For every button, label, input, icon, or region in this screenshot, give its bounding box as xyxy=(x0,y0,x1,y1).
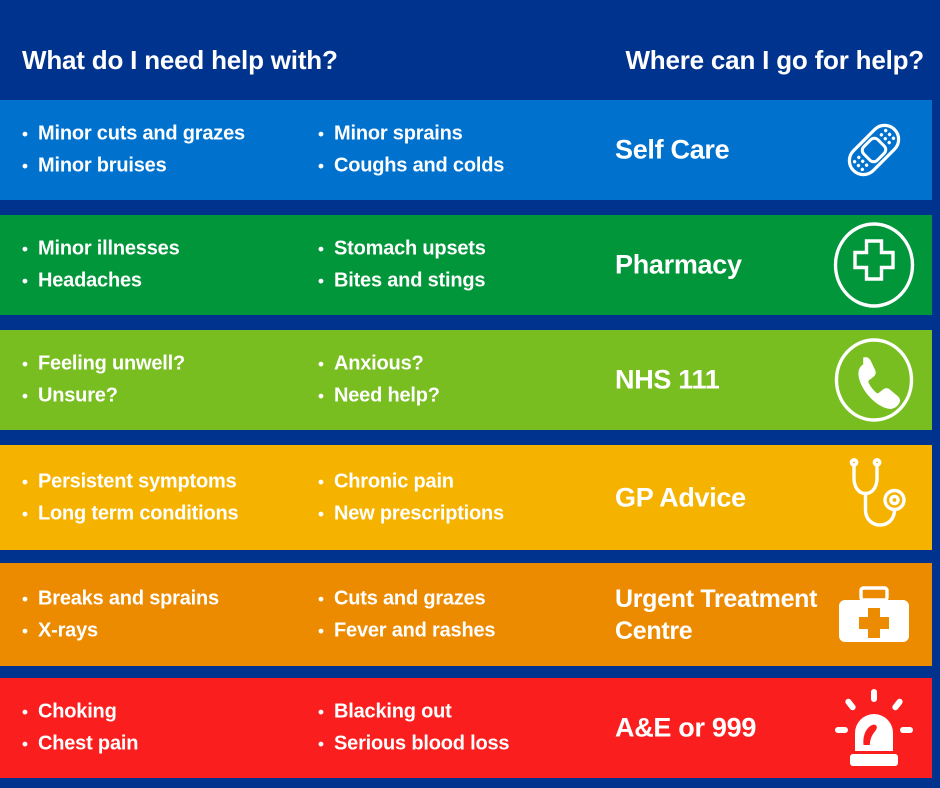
symptom-column-a: Minor illnesses Headaches xyxy=(22,233,180,298)
symptom-column-a: Breaks and sprains X-rays xyxy=(22,582,219,647)
service-name-label: Self Care xyxy=(615,133,830,168)
list-item: Feeling unwell? xyxy=(22,348,185,380)
list-item: Chest pain xyxy=(22,728,138,760)
plaster-icon xyxy=(828,104,920,196)
list-item: Anxious? xyxy=(318,348,440,380)
list-item: Minor sprains xyxy=(318,118,504,150)
bullet-icon xyxy=(318,623,334,640)
list-item: Unsure? xyxy=(22,380,185,412)
service-name-label: A&E or 999 xyxy=(615,711,830,746)
service-name-label: NHS 111 xyxy=(615,363,830,398)
list-item: Minor illnesses xyxy=(22,233,180,265)
list-item: Persistent symptoms xyxy=(22,465,238,497)
list-item: Chronic pain xyxy=(318,465,504,497)
service-row-pharmacy[interactable]: Minor illnesses Headaches Stomach upsets… xyxy=(0,215,932,315)
bullet-icon xyxy=(318,736,334,753)
list-item: Headaches xyxy=(22,265,180,297)
service-row-accident-emergency[interactable]: Choking Chest pain Blacking out Serious … xyxy=(0,678,932,778)
service-row-gp-advice[interactable]: Persistent symptoms Long term conditions… xyxy=(0,445,932,550)
header-bar: What do I need help with? Where can I go… xyxy=(0,0,940,100)
list-item: Minor bruises xyxy=(22,150,245,182)
header-title-right: Where can I go for help? xyxy=(625,45,924,76)
header-title-left: What do I need help with? xyxy=(22,45,338,76)
pharmacy-cross-icon xyxy=(828,219,920,311)
bullet-icon xyxy=(22,388,38,405)
bullet-icon xyxy=(22,241,38,258)
symptom-column-a: Feeling unwell? Unsure? xyxy=(22,348,185,413)
symptom-column-a: Persistent symptoms Long term conditions xyxy=(22,465,238,530)
list-item: Breaks and sprains xyxy=(22,582,219,614)
bullet-icon xyxy=(318,506,334,523)
service-row-nhs-111[interactable]: Feeling unwell? Unsure? Anxious? Need he… xyxy=(0,330,932,430)
symptom-column-b: Stomach upsets Bites and stings xyxy=(318,233,486,298)
stethoscope-icon xyxy=(828,452,920,544)
service-name-label: Pharmacy xyxy=(615,248,830,283)
bullet-icon xyxy=(318,590,334,607)
bullet-icon xyxy=(318,273,334,290)
first-aid-kit-icon xyxy=(828,569,920,661)
bullet-icon xyxy=(318,473,334,490)
list-item: Long term conditions xyxy=(22,498,238,530)
bullet-icon xyxy=(22,356,38,373)
list-item: Fever and rashes xyxy=(318,615,495,647)
list-item: Choking xyxy=(22,696,138,728)
service-row-self-care[interactable]: Minor cuts and grazes Minor bruises Mino… xyxy=(0,100,932,200)
symptom-column-b: Minor sprains Coughs and colds xyxy=(318,118,504,183)
symptom-column-a: Minor cuts and grazes Minor bruises xyxy=(22,118,245,183)
bullet-icon xyxy=(318,241,334,258)
service-name-label: Urgent Treatment Centre xyxy=(615,583,830,647)
bullet-icon xyxy=(318,126,334,143)
list-item: Need help? xyxy=(318,380,440,412)
list-item: Cuts and grazes xyxy=(318,582,495,614)
emergency-siren-icon xyxy=(828,682,920,774)
list-item: Serious blood loss xyxy=(318,728,509,760)
list-item: Coughs and colds xyxy=(318,150,504,182)
bullet-icon xyxy=(22,506,38,523)
symptom-column-b: Chronic pain New prescriptions xyxy=(318,465,504,530)
bullet-icon xyxy=(22,126,38,143)
bullet-icon xyxy=(22,590,38,607)
bullet-icon xyxy=(22,158,38,175)
bullet-icon xyxy=(22,273,38,290)
bullet-icon xyxy=(318,158,334,175)
service-row-urgent-treatment-centre[interactable]: Breaks and sprains X-rays Cuts and graze… xyxy=(0,563,932,666)
symptom-column-b: Blacking out Serious blood loss xyxy=(318,696,509,761)
nhs-help-guide-infographic: What do I need help with? Where can I go… xyxy=(0,0,940,788)
list-item: Stomach upsets xyxy=(318,233,486,265)
symptom-column-b: Cuts and grazes Fever and rashes xyxy=(318,582,495,647)
bullet-icon xyxy=(22,473,38,490)
bullet-icon xyxy=(22,623,38,640)
list-item: New prescriptions xyxy=(318,498,504,530)
bullet-icon xyxy=(318,388,334,405)
telephone-icon xyxy=(828,334,920,426)
bullet-icon xyxy=(318,704,334,721)
list-item: X-rays xyxy=(22,615,219,647)
bullet-icon xyxy=(22,704,38,721)
symptom-column-b: Anxious? Need help? xyxy=(318,348,440,413)
list-item: Bites and stings xyxy=(318,265,486,297)
list-item: Blacking out xyxy=(318,696,509,728)
list-item: Minor cuts and grazes xyxy=(22,118,245,150)
service-name-label: GP Advice xyxy=(615,480,830,515)
bullet-icon xyxy=(22,736,38,753)
bullet-icon xyxy=(318,356,334,373)
symptom-column-a: Choking Chest pain xyxy=(22,696,138,761)
